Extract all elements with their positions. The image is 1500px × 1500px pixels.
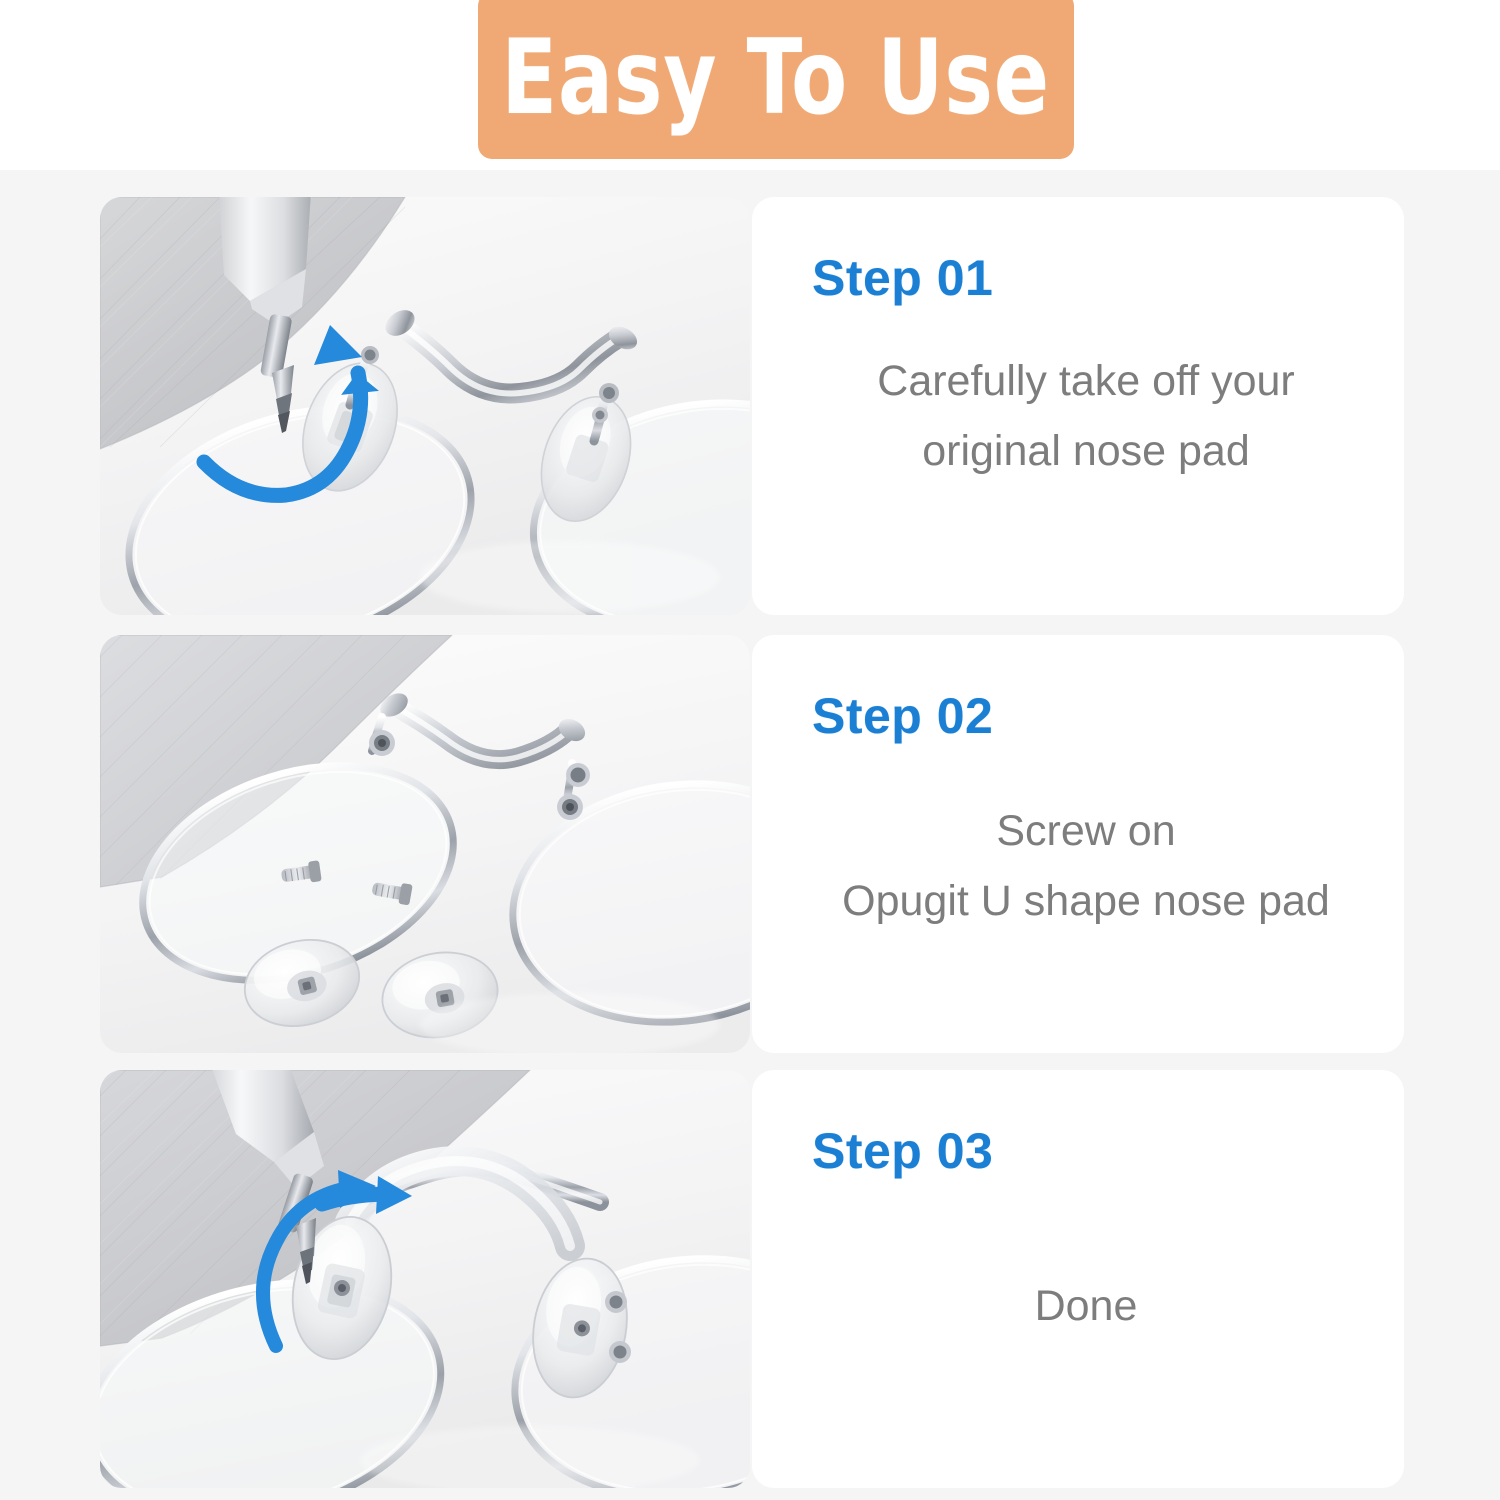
step-text-card-3: Step 03 Done (752, 1070, 1404, 1488)
step-description: Carefully take off your original nose pa… (812, 313, 1360, 575)
step-heading: Step 02 (812, 691, 1360, 741)
step-line: Screw on (996, 797, 1175, 867)
photo-nose-pads-and-screws-laid-out (100, 635, 750, 1053)
step-row-1: Step 01 Carefully take off your original… (100, 197, 1404, 615)
header-banner: Easy To Use (478, 0, 1074, 159)
eyeglasses-photo-illustration (100, 197, 750, 615)
step-line: Carefully take off your (877, 347, 1294, 417)
step-heading: Step 03 (812, 1126, 1360, 1176)
step-line: original nose pad (922, 417, 1250, 487)
step-row-3: Step 03 Done (100, 1070, 1404, 1488)
infographic-page: Easy To Use (0, 0, 1500, 1500)
step-text-card-1: Step 01 Carefully take off your original… (752, 197, 1404, 615)
eyeglasses-done-photo-illustration (100, 1070, 750, 1488)
step-row-2: Step 02 Screw on Opugit U shape nose pad (100, 635, 1404, 1053)
eyeglasses-parts-photo-illustration (100, 635, 750, 1053)
photo-finished-nose-pad-installed (100, 1070, 750, 1488)
step-description: Done (812, 1186, 1360, 1448)
photo-unscrewing-original-nose-pad (100, 197, 750, 615)
step-line: Done (1035, 1272, 1138, 1342)
banner-title: Easy To Use (502, 27, 1051, 130)
step-heading: Step 01 (812, 253, 1360, 303)
step-line: Opugit U shape nose pad (842, 867, 1330, 937)
step-description: Screw on Opugit U shape nose pad (812, 751, 1360, 1013)
step-text-card-2: Step 02 Screw on Opugit U shape nose pad (752, 635, 1404, 1053)
